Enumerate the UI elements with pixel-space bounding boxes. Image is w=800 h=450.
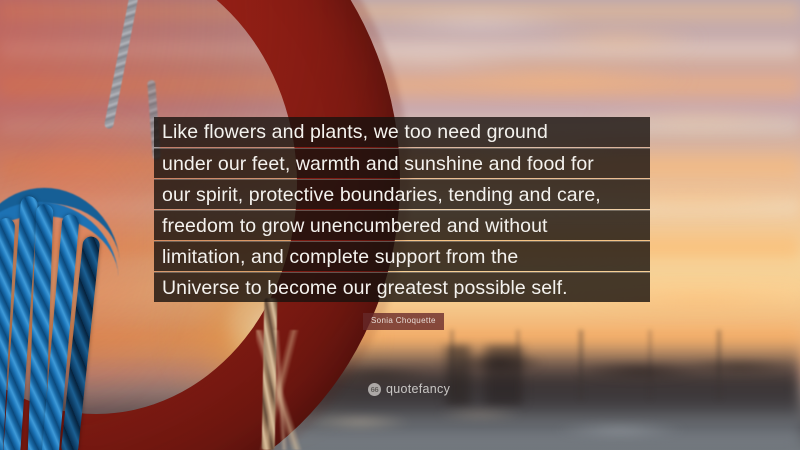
quote-mark-icon: 66 bbox=[368, 383, 381, 396]
quote-line: Like flowers and plants, we too need gro… bbox=[154, 117, 650, 147]
frayed-rope-strand bbox=[262, 298, 278, 450]
quote-line: freedom to grow unencumbered and without bbox=[154, 210, 650, 240]
blue-coiled-rope bbox=[0, 188, 120, 450]
watermark-label: quotefancy bbox=[386, 383, 450, 396]
quote-text-block: Like flowers and plants, we too need gro… bbox=[154, 117, 650, 303]
author-attribution: Sonia Choquette bbox=[363, 313, 444, 330]
quotefancy-watermark: 66 quotefancy bbox=[368, 383, 450, 396]
quote-line: our spirit, protective boundaries, tendi… bbox=[154, 179, 650, 209]
quote-poster: Like flowers and plants, we too need gro… bbox=[0, 0, 800, 450]
quote-line: Universe to become our greatest possible… bbox=[154, 272, 650, 302]
quote-line: under our feet, warmth and sunshine and … bbox=[154, 148, 650, 178]
quote-line: limitation, and complete support from th… bbox=[154, 241, 650, 271]
